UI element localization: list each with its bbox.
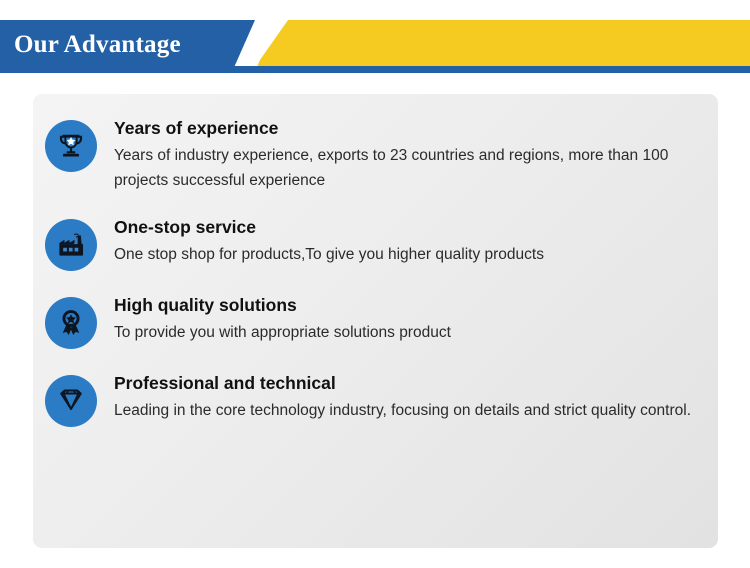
advantage-text: Professional and technical Leading in th…: [114, 371, 704, 423]
advantage-page: Our Advantage: [0, 0, 750, 568]
advantages-panel: Years of experience Years of industry ex…: [33, 94, 718, 548]
advantage-description: To provide you with appropriate solution…: [114, 320, 704, 345]
list-item: High quality solutions To provide you wi…: [33, 293, 718, 349]
advantage-title: High quality solutions: [114, 293, 704, 317]
page-header-banner: Our Advantage: [0, 0, 750, 90]
advantage-description: Leading in the core technology industry,…: [114, 398, 704, 423]
advantage-text: Years of experience Years of industry ex…: [114, 116, 704, 193]
advantage-description: Years of industry experience, exports to…: [114, 143, 704, 193]
banner-bottom-rule: [0, 66, 750, 73]
trophy-icon: [45, 120, 97, 172]
factory-icon: [45, 219, 97, 271]
advantage-description: One stop shop for products,To give you h…: [114, 242, 704, 267]
advantage-title: One-stop service: [114, 215, 704, 239]
advantage-title: Years of experience: [114, 116, 704, 140]
list-item: Professional and technical Leading in th…: [33, 371, 718, 427]
page-title: Our Advantage: [14, 28, 181, 62]
advantage-text: High quality solutions To provide you wi…: [114, 293, 704, 345]
list-item: One-stop service One stop shop for produ…: [33, 215, 718, 271]
award-ribbon-icon: [45, 297, 97, 349]
advantage-title: Professional and technical: [114, 371, 704, 395]
advantage-list: Years of experience Years of industry ex…: [33, 94, 718, 427]
advantage-text: One-stop service One stop shop for produ…: [114, 215, 704, 267]
banner-yellow-band: [255, 20, 750, 67]
list-item: Years of experience Years of industry ex…: [33, 116, 718, 193]
diamond-icon: [45, 375, 97, 427]
